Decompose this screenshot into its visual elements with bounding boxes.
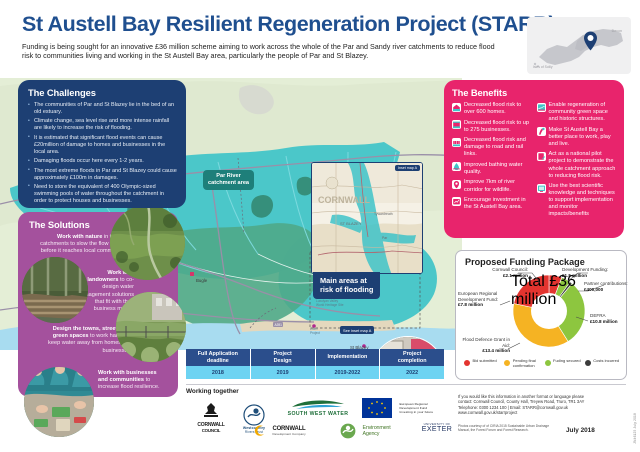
benefit-text: Enable regeneration of community green s…: [549, 102, 617, 123]
inset-map-a: CORNWALL ST BLAZEY Tywardreath Par Inset…: [311, 162, 423, 274]
benefits-column-left: Decreased flood risk to over 600 homes. …: [452, 102, 532, 222]
legend-swatch: [504, 360, 510, 366]
legend-label: Costs incurred: [593, 359, 619, 364]
working-together-title: Working together: [186, 388, 239, 395]
timeline-label: Full Applicationdeadline: [186, 349, 250, 366]
timeline-cell: ProjectDesign 2019: [251, 349, 316, 379]
legend-item: Fuding secured: [545, 359, 582, 369]
funding-label-name: Partner contributions:: [584, 281, 628, 286]
benefit-text: Decreased flood risk to over 600 homes.: [464, 102, 532, 116]
timeline-year: 2018: [186, 366, 250, 379]
heritage-label: Luxulyan ValleyWorld Heritage Site: [316, 300, 344, 308]
project-timeline: Full Applicationdeadline 2018 ProjectDes…: [186, 349, 444, 379]
regeneration-icon: [537, 103, 546, 112]
benefit-item: Decreased flood risk and damage to road …: [452, 137, 532, 158]
header: St Austell Bay Resilient Regeneration Pr…: [0, 0, 640, 72]
legend-item: Bid submitted: [464, 359, 501, 369]
community-workshop-photo: [24, 367, 94, 437]
challenges-card: The Challenges The communities of Par an…: [18, 80, 186, 208]
house-flood-icon: [452, 103, 461, 112]
timeline-cell: Implementation 2019-2022: [316, 349, 381, 379]
benefit-text: Encourage investment in the St Austell B…: [464, 197, 532, 211]
timeline-label: Implementation: [316, 349, 380, 366]
solutions-title: The Solutions: [29, 219, 90, 230]
solution-item: Work with businesses and communities to …: [98, 370, 164, 392]
timeline-label: Projectcompletion: [380, 349, 444, 366]
timeline-label: ProjectDesign: [251, 349, 315, 366]
timeline-year: 2019-2022: [316, 366, 380, 379]
funding-label-name: Cornwall Council:: [492, 267, 528, 272]
road-label: A391: [273, 322, 283, 327]
timeline-cell: Projectcompletion 2022: [380, 349, 444, 379]
challenge-item: Need to store the equivalent of 400 Olym…: [28, 184, 177, 205]
funding-legend: Bid submitted Pending final confirmation…: [464, 359, 622, 369]
benefit-text: Improved bathing water quality.: [464, 162, 532, 176]
green-street-swale-photo: [116, 292, 186, 362]
challenges-list: The communities of Par and St Blazey lie…: [28, 102, 177, 205]
town-label: Bugle: [196, 278, 207, 283]
logo-line2: COUNCIL: [188, 428, 234, 433]
benefit-item: Improve 7km of river corridor for wildli…: [452, 179, 532, 193]
challenge-item: Climate change, sea level rise and more …: [28, 118, 177, 132]
see-inset-label: See inset map A: [340, 326, 374, 334]
svg-text:ST BLAZEY: ST BLAZEY: [340, 221, 362, 226]
woodland-leaky-dam-photo: [22, 257, 88, 323]
solution-bold: Work with nature: [57, 234, 102, 240]
funding-label-name: European Regional Development Fund:: [458, 291, 498, 302]
funding-label-erdf: European Regional Development Fund:£7.8 …: [458, 291, 500, 308]
benefit-text: Decreased flood risk and damage to road …: [464, 137, 532, 158]
legend-item: Costs incurred: [585, 359, 622, 369]
benefit-item: Use the best scientific knowledge and te…: [537, 183, 617, 218]
inset-map-tag: Inset map A: [395, 165, 420, 171]
funding-package-card: Proposed Funding Package Total £36 milli…: [455, 250, 627, 380]
cornwall-development-company-logo: CORNWALL Development Company: [252, 422, 344, 440]
funding-label-development-funding: Development Funding:£1.5 million: [562, 267, 624, 278]
funding-label-value: £400,000: [584, 287, 603, 292]
benefits-card: The Benefits Decreased flood risk to ove…: [444, 80, 624, 238]
logo-line1: Environment: [362, 425, 390, 431]
timeline-cell: Full Applicationdeadline 2018: [186, 349, 251, 379]
benefit-text: Decreased flood risk to up to 275 busine…: [464, 120, 532, 134]
funding-label-partner-contributions: Partner contributions:£400,000: [584, 281, 628, 292]
logo-line2: Development Fund Investing in your futur…: [399, 406, 433, 414]
benefits-column-right: Enable regeneration of community green s…: [537, 102, 617, 222]
challenge-item: The most extreme floods in Par and St Bl…: [28, 168, 177, 182]
funding-label-cornwall-council: Cornwall Council:£2.1 million: [476, 267, 528, 278]
side-reference-text: JN46125 July 2018: [633, 413, 637, 444]
funding-label-flood-defence: Flood Defence Grant in Aid:£13.4 million: [458, 337, 510, 354]
funding-label-defra: DEFRA£10.8 million: [590, 313, 624, 324]
svg-text:Tywardreath: Tywardreath: [374, 212, 393, 216]
wildlife-corridor-icon: [452, 180, 461, 189]
funding-label-value: £10.8 million: [590, 319, 618, 324]
partner-logos: CORNWALL COUNCIL Westcountry Rivers Trus…: [186, 396, 454, 442]
isles-of-scilly-label: Isles of Scilly: [533, 65, 553, 69]
challenge-item: Damaging floods occur here every 1-2 yea…: [28, 158, 177, 165]
photo-credit: Photos courtesy of of CIRIA 2015 Sustain…: [458, 424, 554, 432]
play-live-icon: [537, 127, 546, 136]
logo-line1: CORNWALL: [272, 426, 305, 432]
benefit-text: Use the best scientific knowledge and te…: [549, 183, 617, 218]
funding-label-value: £2.1 million: [503, 273, 528, 278]
funding-label-value: £13.4 million: [482, 348, 510, 353]
benefit-item: Improved bathing water quality.: [452, 162, 532, 176]
benefit-text: Improve 7km of river corridor for wildli…: [464, 179, 532, 193]
accessibility-contact-note: If you would like this information in an…: [458, 394, 596, 415]
cornwall-location-map: Isles of Scilly Devon: [527, 17, 631, 74]
challenges-title: The Challenges: [28, 87, 177, 98]
water-quality-icon: [452, 162, 461, 171]
logo-line2: Agency: [362, 431, 390, 437]
funding-label-value: £1.5 million: [562, 273, 587, 278]
benefits-title: The Benefits: [452, 87, 616, 98]
legend-swatch: [545, 360, 551, 366]
national-pilot-icon: [537, 152, 546, 161]
aerial-river-catchment-photo: [110, 205, 185, 280]
funding-label-name: Flood Defence Grant in Aid:: [463, 337, 511, 348]
devon-label: Devon: [612, 29, 622, 33]
funding-label-name: Development Funding:: [562, 267, 608, 272]
page-title: St Austell Bay Resilient Regeneration Pr…: [22, 12, 555, 37]
par-catchment-label: Par Rivercatchment area: [203, 170, 254, 190]
legend-label: Pending final confirmation: [513, 359, 542, 369]
logo-line1: SOUTH WEST WATER: [278, 411, 358, 417]
legend-label: Bid submitted: [473, 359, 497, 364]
university-of-exeter-logo: UNIVERSITY OF EXETER: [414, 422, 460, 433]
benefit-item: Decreased flood risk to over 600 homes.: [452, 102, 532, 116]
south-west-water-logo: SOUTH WEST WATER: [278, 398, 358, 417]
benefit-text: Act as a national pilot project to demon…: [549, 151, 617, 179]
logo-line2: Development Company: [272, 432, 305, 436]
legend-swatch: [464, 360, 470, 366]
timeline-year: 2022: [380, 366, 444, 379]
divider: [186, 384, 626, 385]
legend-swatch: [585, 360, 591, 366]
challenge-item: The communities of Par and St Blazey lie…: [28, 102, 177, 116]
heritage-label: EdenProject: [310, 328, 320, 336]
svg-text:CORNWALL: CORNWALL: [318, 195, 370, 205]
publication-date: July 2018: [566, 427, 595, 434]
challenge-item: It is estimated that significant flood e…: [28, 135, 177, 156]
legend-item: Pending final confirmation: [504, 359, 541, 369]
investment-icon: [452, 197, 461, 206]
benefit-item: Act as a national pilot project to demon…: [537, 151, 617, 179]
benefit-item: Enable regeneration of community green s…: [537, 102, 617, 123]
funding-label-name: DEFRA: [590, 313, 606, 318]
benefit-text: Make St Austell Bay a better place to wo…: [549, 127, 617, 148]
shop-flood-icon: [452, 120, 461, 129]
timeline-year: 2019: [251, 366, 315, 379]
benefit-item: Encourage investment in the St Austell B…: [452, 197, 532, 211]
svg-text:Par: Par: [382, 236, 388, 240]
legend-label: Fuding secured: [553, 359, 581, 364]
funding-label-value: £7.8 million: [458, 302, 483, 307]
erdf-logo: European Regional Development Fund Inves…: [362, 398, 454, 418]
logo-line1: EXETER: [414, 426, 460, 433]
infographic-page: St Austell Bay Resilient Regeneration Pr…: [0, 0, 640, 452]
cornwall-council-logo: CORNWALL COUNCIL: [188, 402, 234, 433]
benefit-item: Make St Austell Bay a better place to wo…: [537, 127, 617, 148]
page-subtitle: Funding is being sought for an innovativ…: [22, 42, 502, 60]
road-rail-icon: [452, 138, 461, 147]
risk-of-flooding-label: Main areas atrisk of flooding: [313, 272, 380, 299]
environment-agency-logo: Environment Agency: [340, 422, 418, 440]
science-knowledge-icon: [537, 184, 546, 193]
benefit-item: Decreased flood risk to up to 275 busine…: [452, 120, 532, 134]
